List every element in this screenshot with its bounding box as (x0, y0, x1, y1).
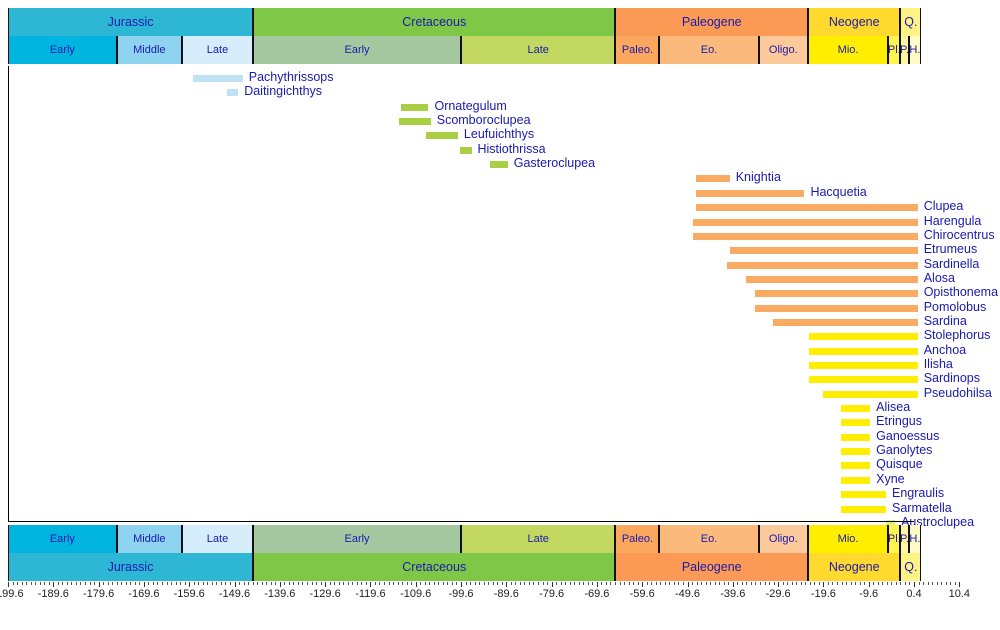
axis-tick-minor (389, 582, 390, 585)
taxon-row: Histiothrissa (9, 143, 915, 157)
axis-tick-minor (620, 582, 621, 585)
taxon-row: Daitingichthys (9, 85, 915, 99)
plot-bottom-border (8, 521, 914, 522)
bottom-epoch-band: EarlyMiddleLateEarlyLatePaleo.Eo.Oligo.M… (0, 525, 1000, 553)
axis-tick-label: -189.6 (38, 588, 69, 600)
axis-tick-minor (420, 582, 421, 585)
taxon-range-bar[interactable] (460, 147, 471, 154)
taxon-range-bar[interactable] (399, 118, 431, 125)
taxon-range-bar[interactable] (773, 319, 918, 326)
axis-tick-minor (330, 582, 331, 585)
timescale-cell-label: Mio. (838, 44, 859, 56)
axis-tick-minor (343, 582, 344, 585)
axis-tick-minor (565, 582, 566, 585)
taxon-label: Pomolobus (924, 300, 987, 314)
axis-tick-label: -199.6 (0, 588, 24, 600)
timescale-cell-neogene: Neogene (808, 8, 900, 36)
timescale-cell-late: Late (461, 525, 615, 553)
axis-tick-minor (221, 582, 222, 585)
axis-tick-minor (746, 582, 747, 585)
axis-tick-minor (452, 582, 453, 585)
axis-tick-label: -149.6 (219, 588, 250, 600)
taxon-range-bar[interactable] (841, 491, 886, 498)
timescale-cell-cretaceous: Cretaceous (253, 553, 615, 581)
timescale-cell-label: Eo. (701, 533, 718, 545)
axis-tick-minor (651, 582, 652, 585)
timescale-cell-mio: Mio. (808, 525, 888, 553)
timescale-cell-label: Neogene (829, 560, 880, 574)
axis-tick-label: -169.6 (128, 588, 159, 600)
axis-tick-minor (425, 582, 426, 585)
axis-tick-minor (262, 582, 263, 585)
axis-tick-minor (216, 582, 217, 585)
stratigraphic-range-chart: JurassicCretaceousPaleogeneNeogeneQ. Ear… (0, 0, 1000, 630)
taxon-row: Leufuichthys (9, 128, 915, 142)
axis-tick-minor (470, 582, 471, 585)
timescale-cell-label: H. (909, 533, 920, 545)
axis-tick-minor (207, 582, 208, 585)
axis-tick-minor (610, 582, 611, 585)
taxon-label: Histiothrissa (478, 142, 546, 156)
axis-tick-minor (701, 582, 702, 585)
axis-tick-minor (130, 582, 131, 585)
taxon-label: Gasteroclupea (514, 156, 595, 170)
timescale-cell-label: P. (900, 533, 908, 545)
axis-tick-minor (787, 582, 788, 585)
axis-tick-minor (937, 582, 938, 585)
taxon-label: Ganolytes (876, 443, 932, 457)
taxon-range-bar[interactable] (841, 419, 870, 426)
axis-tick-label: -179.6 (83, 588, 114, 600)
axis-tick-minor (148, 582, 149, 585)
axis-tick-minor (814, 582, 815, 585)
timescale-cell-late: Late (182, 525, 253, 553)
taxon-row: Sardinops (9, 372, 915, 386)
timescale-cell-label: Early (344, 44, 369, 56)
axis-tick-label: -59.6 (630, 588, 655, 600)
taxon-label: Daitingichthys (244, 84, 322, 98)
axis-tick-minor (117, 582, 118, 585)
axis-tick-minor (946, 582, 947, 585)
axis-tick-minor (810, 582, 811, 585)
axis-tick-minor (348, 582, 349, 585)
taxon-label: Xyne (876, 472, 905, 486)
taxon-row: Sarmatella (9, 502, 915, 516)
top-epoch-band: EarlyMiddleLateEarlyLatePaleo.Eo.Oligo.M… (0, 36, 1000, 64)
axis-tick-minor (62, 582, 63, 585)
axis-tick-minor (561, 582, 562, 585)
axis-tick-minor (710, 582, 711, 585)
axis-tick-minor (647, 582, 648, 585)
axis-tick-minor (58, 582, 59, 585)
axis-tick-minor (108, 582, 109, 585)
axis-tick-major (552, 582, 553, 587)
taxon-range-bar[interactable] (841, 434, 870, 441)
axis-tick-minor (316, 582, 317, 585)
timescale-cell-p: P. (900, 36, 908, 64)
taxon-range-bar[interactable] (809, 362, 918, 369)
axis-tick-minor (950, 582, 951, 585)
taxon-range-bar[interactable] (730, 247, 918, 254)
axis-tick-minor (466, 582, 467, 585)
timescale-cell-pl: Pl. (888, 36, 900, 64)
axis-tick-minor (253, 582, 254, 585)
axis-tick-minor (375, 582, 376, 585)
axis-tick-minor (171, 582, 172, 585)
taxon-row: Stolephorus (9, 329, 915, 343)
axis-tick-minor (443, 582, 444, 585)
timescale-cell-jurassic: Jurassic (8, 8, 253, 36)
axis-tick-minor (398, 582, 399, 585)
timescale-cell-eo: Eo. (659, 525, 758, 553)
axis-tick-minor (35, 582, 36, 585)
axis-tick-label: -29.6 (766, 588, 791, 600)
axis-tick-major (189, 582, 190, 587)
axis-tick-minor (828, 582, 829, 585)
axis-tick-minor (434, 582, 435, 585)
taxon-row: Alisea (9, 401, 915, 415)
axis-tick-minor (153, 582, 154, 585)
taxon-row: Knightia (9, 171, 915, 185)
taxon-row: Clupea (9, 200, 915, 214)
taxon-row: Scomboroclupea (9, 114, 915, 128)
axis-tick-minor (384, 582, 385, 585)
timescale-cell-label: Late (528, 533, 549, 545)
taxon-label: Chirocentrus (924, 228, 995, 242)
axis-tick-minor (212, 582, 213, 585)
axis-tick-minor (334, 582, 335, 585)
taxon-range-bar[interactable] (841, 477, 870, 484)
timescale-cell-paleo: Paleo. (615, 36, 659, 64)
axis-tick-minor (674, 582, 675, 585)
taxon-range-bar[interactable] (809, 376, 918, 383)
taxon-label: Harengula (924, 214, 982, 228)
axis-tick-minor (289, 582, 290, 585)
axis-tick-minor (887, 582, 888, 585)
taxon-row: Anchoa (9, 344, 915, 358)
axis-tick-minor (592, 582, 593, 585)
axis-tick-minor (17, 582, 18, 585)
timescale-cell-oligo: Oligo. (759, 525, 808, 553)
bottom-period-band: JurassicCretaceousPaleogeneNeogeneQ. (0, 553, 1000, 581)
axis-tick-minor (447, 582, 448, 585)
taxon-range-bar[interactable] (490, 161, 508, 168)
timescale-cell-h: H. (909, 36, 922, 64)
axis-tick-minor (225, 582, 226, 585)
taxon-label: Opisthonema (924, 285, 998, 299)
timescale-cell-label: Pl. (888, 44, 900, 56)
timescale-cell-label: Late (207, 44, 228, 56)
taxon-row: Sardinella (9, 258, 915, 272)
timescale-cell-q: Q. (900, 8, 921, 36)
taxon-range-bar[interactable] (693, 233, 917, 240)
axis-tick-minor (31, 582, 32, 585)
axis-tick-minor (923, 582, 924, 585)
axis-tick-label: -159.6 (174, 588, 205, 600)
axis-tick-minor (429, 582, 430, 585)
taxon-row: Ganolytes (9, 444, 915, 458)
axis-tick-minor (633, 582, 634, 585)
axis-tick-minor (167, 582, 168, 585)
taxon-row: Ornategulum (9, 100, 915, 114)
taxon-label: Alisea (876, 400, 910, 414)
axis-tick-minor (67, 582, 68, 585)
axis-tick-minor (185, 582, 186, 585)
taxon-row: Gasteroclupea (9, 157, 915, 171)
timescale-cell-label: Paleo. (622, 44, 653, 56)
axis-tick-minor (697, 582, 698, 585)
axis-tick-major (506, 582, 507, 587)
taxon-label: Etrumeus (924, 242, 978, 256)
axis-tick-minor (475, 582, 476, 585)
axis-tick-minor (203, 582, 204, 585)
timescale-cell-eo: Eo. (659, 36, 758, 64)
taxon-row: Pomolobus (9, 301, 915, 315)
axis-tick-minor (520, 582, 521, 585)
axis-tick-minor (638, 582, 639, 585)
taxon-range-bar[interactable] (823, 391, 918, 398)
axis-tick-minor (244, 582, 245, 585)
axis-tick-minor (683, 582, 684, 585)
axis-tick-minor (511, 582, 512, 585)
taxon-range-bar[interactable] (426, 132, 458, 139)
time-axis: -199.6-189.6-179.6-169.6-159.6-149.6-139… (0, 582, 1000, 622)
timescale-cell-label: Oligo. (769, 533, 798, 545)
timescale-cell-label: Middle (133, 44, 165, 56)
taxon-row: Xyne (9, 473, 915, 487)
taxon-row: Ilisha (9, 358, 915, 372)
taxon-range-bar[interactable] (696, 204, 918, 211)
axis-tick-major (461, 582, 462, 587)
axis-tick-major (688, 582, 689, 587)
axis-tick-minor (760, 582, 761, 585)
axis-tick-minor (293, 582, 294, 585)
axis-tick-minor (801, 582, 802, 585)
taxon-range-bar[interactable] (693, 219, 917, 226)
taxon-range-bar[interactable] (755, 290, 918, 297)
axis-tick-minor (44, 582, 45, 585)
axis-tick-minor (656, 582, 657, 585)
timescale-cell-early: Early (8, 525, 117, 553)
axis-tick-minor (579, 582, 580, 585)
axis-tick-major (869, 582, 870, 587)
axis-tick-minor (402, 582, 403, 585)
axis-tick-minor (864, 582, 865, 585)
taxon-label: Ornategulum (434, 99, 506, 113)
axis-tick-minor (94, 582, 95, 585)
axis-tick-label: 0.4 (906, 588, 921, 600)
taxon-range-bar[interactable] (746, 276, 918, 283)
axis-tick-minor (112, 582, 113, 585)
timescale-cell-late: Late (461, 36, 615, 64)
axis-tick-minor (361, 582, 362, 585)
timescale-cell-label: Paleogene (682, 15, 742, 29)
axis-tick-minor (629, 582, 630, 585)
axis-tick-minor (574, 582, 575, 585)
timescale-cell-label: Oligo. (769, 44, 798, 56)
axis-tick-minor (135, 582, 136, 585)
taxon-row: Opisthonema (9, 286, 915, 300)
axis-tick-major (235, 582, 236, 587)
axis-tick-minor (765, 582, 766, 585)
timescale-cell-label: Jurassic (108, 15, 154, 29)
timescale-cell-p: P. (900, 525, 908, 553)
timescale-cell-label: Paleo. (622, 533, 653, 545)
timescale-cell-label: Paleogene (682, 560, 742, 574)
timescale-cell-label: Mio. (838, 533, 859, 545)
axis-tick-major (416, 582, 417, 587)
axis-tick-minor (103, 582, 104, 585)
axis-tick-label: -89.6 (494, 588, 519, 600)
axis-tick-minor (71, 582, 72, 585)
timescale-cell-label: Late (207, 533, 228, 545)
taxon-row: Ganoessus (9, 430, 915, 444)
axis-tick-minor (719, 582, 720, 585)
axis-tick-minor (497, 582, 498, 585)
axis-tick-minor (832, 582, 833, 585)
axis-tick-minor (737, 582, 738, 585)
timescale-cell-label: Late (528, 44, 549, 56)
taxon-label: Pseudohilsa (924, 386, 992, 400)
axis-tick-major (959, 582, 960, 587)
axis-tick-minor (40, 582, 41, 585)
timescale-cell-label: Pl. (888, 533, 900, 545)
axis-tick-minor (76, 582, 77, 585)
taxon-range-bar[interactable] (227, 89, 238, 96)
axis-tick-label: -39.6 (720, 588, 745, 600)
axis-tick-minor (755, 582, 756, 585)
axis-tick-minor (484, 582, 485, 585)
axis-tick-major (597, 582, 598, 587)
axis-tick-label: -19.6 (811, 588, 836, 600)
timescale-cell-label: Neogene (829, 15, 880, 29)
axis-tick-minor (139, 582, 140, 585)
taxon-range-bar[interactable] (841, 506, 886, 513)
taxon-row: Engraulis (9, 487, 915, 501)
axis-tick-minor (366, 582, 367, 585)
taxon-row: Pseudohilsa (9, 387, 915, 401)
taxon-label: Engraulis (892, 486, 944, 500)
axis-tick-minor (692, 582, 693, 585)
taxon-range-bar[interactable] (809, 348, 918, 355)
axis-tick-minor (919, 582, 920, 585)
axis-tick-minor (724, 582, 725, 585)
axis-tick-minor (543, 582, 544, 585)
taxon-label: Pachythrissops (249, 70, 334, 84)
taxon-label: Sardinops (924, 371, 980, 385)
taxon-range-bar[interactable] (755, 305, 918, 312)
axis-tick-minor (162, 582, 163, 585)
axis-tick-label: -9.6 (859, 588, 878, 600)
timescale-cell-label: Cretaceous (402, 15, 466, 29)
timescale-cell-label: Middle (133, 533, 165, 545)
axis-tick-minor (248, 582, 249, 585)
axis-tick-minor (257, 582, 258, 585)
axis-tick-minor (284, 582, 285, 585)
taxon-label: Knightia (736, 170, 781, 184)
timescale-cell-label: Jurassic (108, 560, 154, 574)
axis-tick-minor (157, 582, 158, 585)
timescale-cell-label: Cretaceous (402, 560, 466, 574)
axis-tick-minor (266, 582, 267, 585)
taxon-range-bar[interactable] (841, 462, 870, 469)
taxon-label: Clupea (924, 199, 964, 213)
axis-tick-minor (873, 582, 874, 585)
taxon-range-bar[interactable] (841, 405, 870, 412)
taxon-range-bar[interactable] (841, 448, 870, 455)
axis-tick-minor (176, 582, 177, 585)
taxon-range-bar[interactable] (401, 104, 428, 111)
timescale-cell-late: Late (182, 36, 253, 64)
axis-tick-minor (955, 582, 956, 585)
axis-tick-minor (533, 582, 534, 585)
axis-tick-minor (493, 582, 494, 585)
timescale-cell-early: Early (253, 525, 461, 553)
taxon-row: Alosa (9, 272, 915, 286)
axis-tick-minor (22, 582, 23, 585)
axis-tick-minor (275, 582, 276, 585)
axis-tick-minor (792, 582, 793, 585)
timescale-cell-paleogene: Paleogene (615, 8, 808, 36)
axis-tick-minor (583, 582, 584, 585)
axis-tick-minor (13, 582, 14, 585)
axis-tick-minor (896, 582, 897, 585)
axis-tick-minor (49, 582, 50, 585)
axis-tick-minor (126, 582, 127, 585)
axis-tick-major (144, 582, 145, 587)
axis-tick-minor (570, 582, 571, 585)
axis-tick-minor (783, 582, 784, 585)
taxon-range-bar[interactable] (727, 262, 917, 269)
timescale-cell-label: Q. (904, 15, 917, 29)
taxon-range-bar[interactable] (696, 190, 805, 197)
axis-tick-minor (932, 582, 933, 585)
taxon-row: Hacquetia (9, 186, 915, 200)
taxon-row: Sardina (9, 315, 915, 329)
axis-tick-minor (379, 582, 380, 585)
axis-tick-minor (302, 582, 303, 585)
axis-tick-major (778, 582, 779, 587)
axis-tick-minor (742, 582, 743, 585)
axis-tick-minor (905, 582, 906, 585)
timescale-cell-label: Early (50, 533, 75, 545)
axis-tick-minor (601, 582, 602, 585)
taxon-row: Harengula (9, 215, 915, 229)
timescale-cell-early: Early (253, 36, 461, 64)
axis-tick-major (823, 582, 824, 587)
top-period-band: JurassicCretaceousPaleogeneNeogeneQ. (0, 8, 1000, 36)
axis-tick-minor (805, 582, 806, 585)
axis-tick-minor (547, 582, 548, 585)
axis-tick-major (325, 582, 326, 587)
axis-tick-minor (751, 582, 752, 585)
axis-tick-minor (357, 582, 358, 585)
timescale-cell-cretaceous: Cretaceous (253, 8, 615, 36)
taxon-range-bar[interactable] (193, 75, 243, 82)
taxon-range-bar[interactable] (809, 333, 918, 340)
axis-tick-minor (352, 582, 353, 585)
axis-tick-minor (624, 582, 625, 585)
axis-tick-label: -49.6 (675, 588, 700, 600)
taxon-range-bar[interactable] (696, 175, 730, 182)
axis-tick-minor (515, 582, 516, 585)
axis-tick-minor (606, 582, 607, 585)
axis-tick-minor (312, 582, 313, 585)
axis-tick-minor (298, 582, 299, 585)
axis-tick-minor (678, 582, 679, 585)
timescale-cell-middle: Middle (117, 525, 182, 553)
axis-tick-minor (665, 582, 666, 585)
